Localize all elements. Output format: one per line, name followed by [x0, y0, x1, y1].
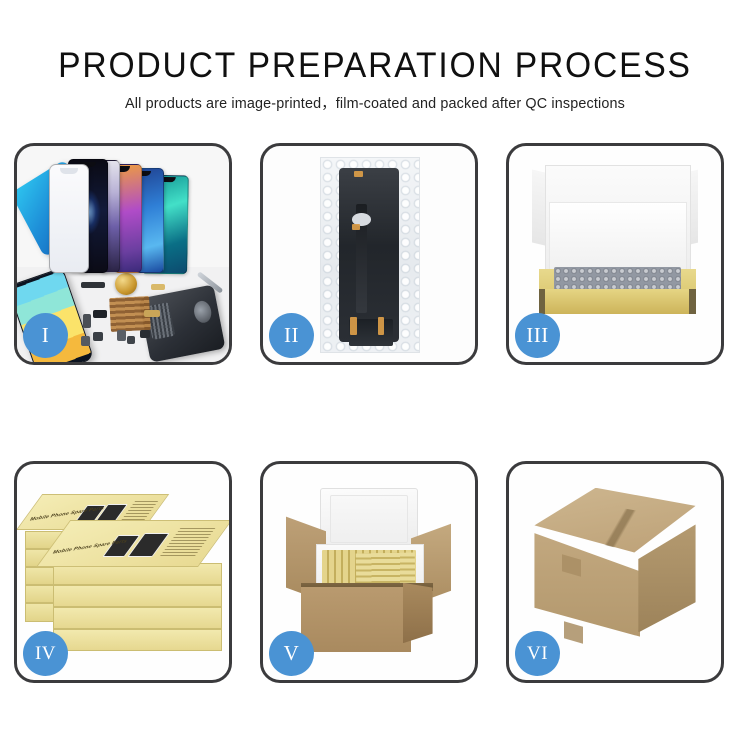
process-step-panel-5: V: [260, 461, 478, 683]
spare-part: [151, 284, 165, 290]
tempered-glass-panel: [49, 164, 89, 274]
speaker-component: [115, 273, 137, 295]
step-badge-3: III: [515, 313, 560, 358]
process-step-panel-2: II: [260, 143, 478, 365]
spare-part: [140, 330, 150, 338]
adhesive-tape: [350, 317, 357, 334]
flex-cable: [356, 204, 367, 313]
gray-bubble-padding: [554, 267, 681, 291]
process-step-panel-6: VI: [506, 461, 724, 683]
spare-part: [127, 336, 135, 344]
box-face: [54, 586, 222, 606]
carton-front-face: [301, 587, 411, 652]
foam-cooler-lid: [320, 488, 417, 550]
process-step-panel-4: Mobile Phone Spare Parts Mobile Phone Sp…: [14, 461, 232, 683]
spare-part: [81, 336, 90, 346]
spare-part: [93, 310, 107, 318]
box-face: [54, 608, 222, 628]
step-badge-6: VI: [515, 631, 560, 676]
carton-tape-patch: [564, 621, 583, 644]
spare-part: [81, 282, 105, 288]
step-badge-2: II: [269, 313, 314, 358]
page-title: PRODUCT PREPARATION PROCESS: [15, 0, 735, 87]
header: PRODUCT PREPARATION PROCESS All products…: [0, 0, 750, 114]
step-badge-1: I: [23, 313, 68, 358]
process-step-panel-1: I: [14, 143, 232, 365]
spare-part: [83, 314, 91, 328]
bubble-wrap-bag: [320, 157, 420, 353]
spare-part: [93, 332, 103, 341]
adhesive-tape: [352, 224, 360, 230]
step-badge-5: V: [269, 631, 314, 676]
box-face: [54, 630, 222, 650]
phone-back-housing: [139, 284, 226, 362]
yellow-box-front: [539, 289, 696, 315]
product-preparation-infographic: PRODUCT PREPARATION PROCESS All products…: [0, 0, 750, 750]
box-lid-front: Mobile Phone Spare Parts: [36, 520, 229, 567]
lcd-screen-assembly: [339, 168, 399, 343]
white-foam-sheet: [549, 202, 687, 273]
spare-part: [117, 330, 126, 341]
adhesive-tape: [378, 317, 384, 334]
adhesive-tape: [354, 171, 363, 177]
box-edge: [53, 607, 223, 629]
phone-screen-fan: [68, 161, 225, 273]
page-subtitle: All products are image-printed，film-coat…: [6, 87, 745, 114]
step-badge-4: IV: [23, 631, 68, 676]
spare-part: [144, 310, 160, 317]
process-step-grid: I II: [14, 143, 736, 688]
box-edge: [53, 585, 223, 607]
box-edge: [53, 629, 223, 651]
carton-side-face: [403, 583, 433, 643]
process-step-panel-3: III: [506, 143, 724, 365]
